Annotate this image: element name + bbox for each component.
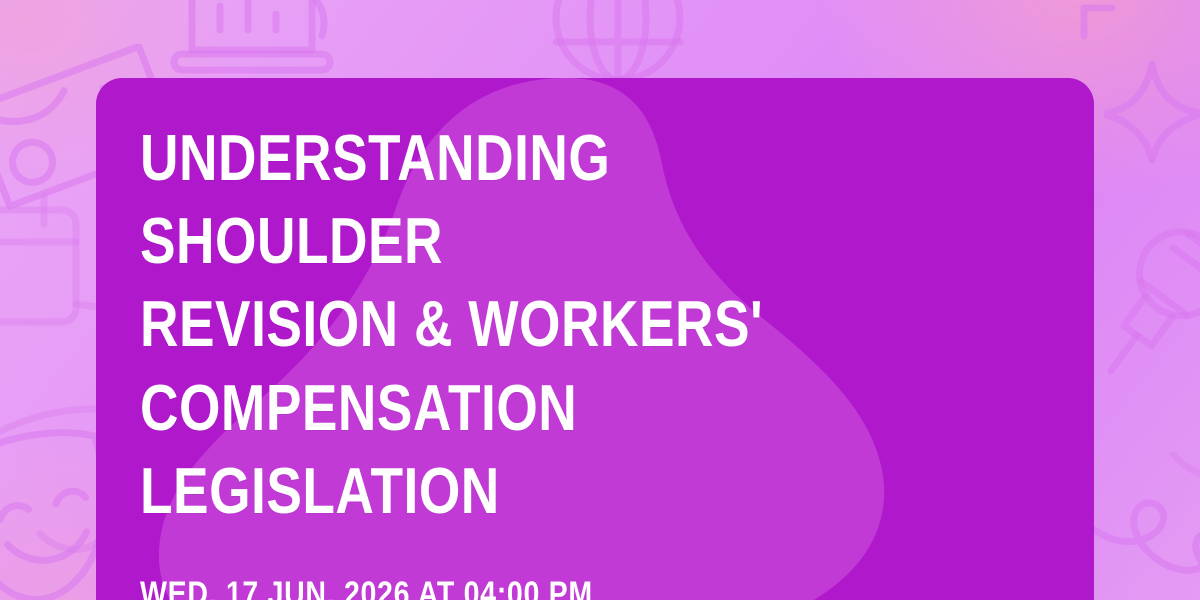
card-content: UNDERSTANDING SHOULDER REVISION & WORKER…: [96, 78, 1094, 600]
event-card: UNDERSTANDING SHOULDER REVISION & WORKER…: [96, 78, 1094, 600]
microphone-icon: [1088, 216, 1200, 436]
event-banner: UNDERSTANDING SHOULDER REVISION & WORKER…: [0, 0, 1200, 600]
event-title: UNDERSTANDING SHOULDER REVISION & WORKER…: [140, 116, 886, 532]
sparkle-icon: [1104, 56, 1200, 166]
event-date: WED, 17 JUN, 2026 AT 04:00 PM: [140, 576, 904, 600]
